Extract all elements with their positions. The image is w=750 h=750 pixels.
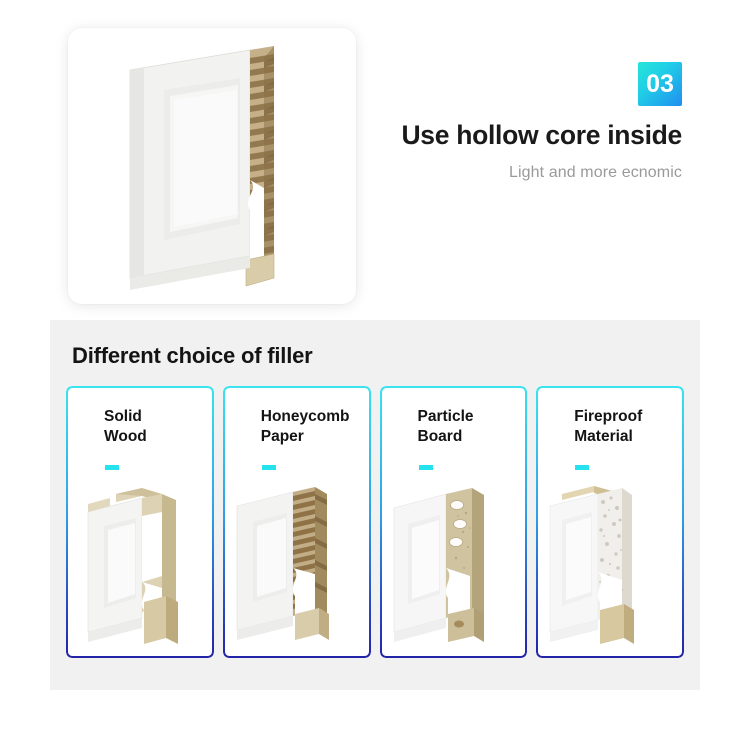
card-title-line1: Fireproof xyxy=(574,408,642,425)
card-title-line1: Particle xyxy=(418,408,474,425)
card-title-line2: Wood xyxy=(104,428,147,445)
filler-card-list: Solid Wood xyxy=(66,386,684,658)
card-title: Solid Wood xyxy=(104,407,147,447)
solid-wood-image xyxy=(66,472,214,654)
page-subtitle: Light and more ecnomic xyxy=(352,164,682,182)
card-title-line2: Material xyxy=(574,428,633,445)
card-title-line1: Honeycomb xyxy=(261,408,350,425)
hero-section: 03 Use hollow core inside Light and more… xyxy=(0,0,750,320)
honeycomb-paper-image xyxy=(223,472,371,654)
step-number-badge: 03 xyxy=(638,62,682,106)
card-title-line2: Board xyxy=(418,428,463,445)
accent-dash xyxy=(105,465,119,470)
particle-board-image xyxy=(380,472,528,654)
card-title-line2: Paper xyxy=(261,428,304,445)
hollow-core-door-cross-section-image xyxy=(68,28,356,304)
filler-options-panel: Different choice of filler Solid Wood xyxy=(50,320,700,690)
card-title: Fireproof Material xyxy=(574,407,642,447)
panel-title: Different choice of filler xyxy=(72,343,313,369)
card-title: Honeycomb Paper xyxy=(261,407,350,447)
card-title-line1: Solid xyxy=(104,408,142,425)
hero-text-block: 03 Use hollow core inside Light and more… xyxy=(352,62,682,182)
page-title: Use hollow core inside xyxy=(352,120,682,150)
filler-card-solid-wood[interactable]: Solid Wood xyxy=(66,386,214,658)
filler-card-particle-board[interactable]: Particle Board xyxy=(380,386,528,658)
accent-dash xyxy=(419,465,433,470)
accent-dash xyxy=(262,465,276,470)
filler-card-fireproof-material[interactable]: Fireproof Material xyxy=(536,386,684,658)
fireproof-material-image xyxy=(536,472,684,654)
hero-image-card xyxy=(68,28,356,304)
card-title: Particle Board xyxy=(418,407,474,447)
accent-dash xyxy=(575,465,589,470)
filler-card-honeycomb-paper[interactable]: Honeycomb Paper xyxy=(223,386,371,658)
